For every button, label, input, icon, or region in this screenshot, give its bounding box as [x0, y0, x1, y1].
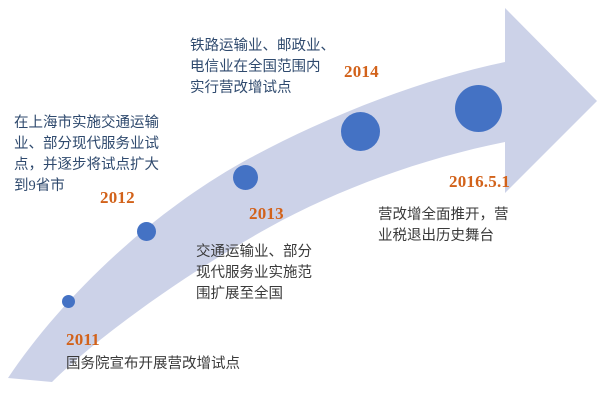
milestone-dot-2012[interactable] — [137, 222, 156, 241]
milestone-description-2013: 交通运输业、部分 现代服务业实施范 围扩展至全国 — [196, 242, 312, 305]
timeline-infographic: 2011 2012 2013 2014 2016.5.1 国务院宣布开展营改增试… — [0, 0, 600, 400]
milestone-dot-2016[interactable] — [455, 85, 502, 132]
milestone-dot-2014[interactable] — [341, 112, 380, 151]
milestone-description-2014: 铁路运输业、邮政业、 电信业在全国范围内 实行营改增试点 — [190, 36, 335, 99]
milestone-description-2016: 营改增全面推开，营 业税退出历史舞台 — [378, 205, 509, 247]
year-label-2014: 2014 — [344, 62, 379, 82]
year-label-2013: 2013 — [249, 204, 284, 224]
year-label-2016: 2016.5.1 — [449, 172, 510, 192]
milestone-dot-2011[interactable] — [62, 295, 75, 308]
milestone-description-2012: 在上海市实施交通运输 业、部分现代服务业试 点，并逐步将试点扩大 到9省市 — [14, 113, 159, 197]
milestone-dot-2013[interactable] — [233, 165, 258, 190]
milestone-description-2011: 国务院宣布开展营改增试点 — [66, 354, 240, 375]
year-label-2011: 2011 — [66, 330, 100, 350]
